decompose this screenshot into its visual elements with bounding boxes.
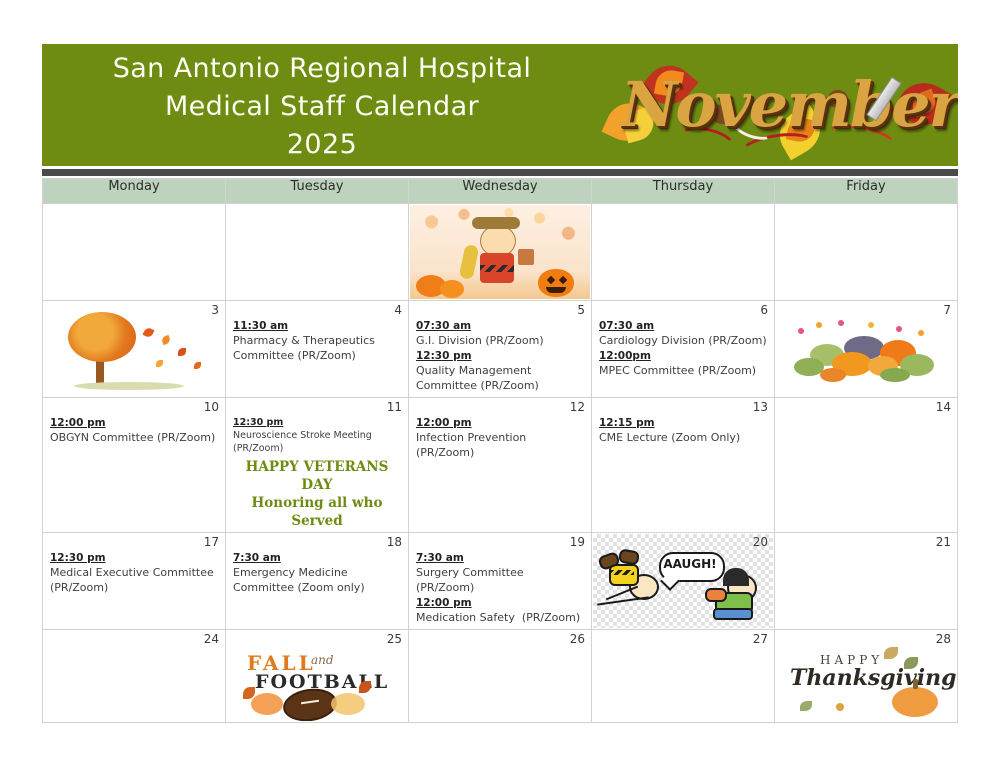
day-cell-18[interactable]: 18 7:30 am Emergency Medicine Committee … [226,533,409,630]
day-cell-10[interactable]: 10 12:00 pm OBGYN Committee (PR/Zoom) [43,398,226,533]
event-time: 07:30 am [599,319,767,333]
day-cell-26[interactable]: 26 [409,630,592,723]
ground [74,382,184,390]
day-cell-charlie-brown[interactable] [409,204,592,301]
leaf-icon [884,647,898,659]
calendar-page: San Antonio Regional Hospital Medical St… [0,0,1000,773]
event-time: 12:30 pm [50,551,218,565]
day-number: 24 [204,632,219,646]
day-cell-11[interactable]: 11 12:30 pm Neuroscience Stroke Meeting … [226,398,409,533]
day-cell-27[interactable]: 27 [592,630,775,723]
event-time: 7:30 am [233,551,401,565]
day-number: 12 [570,400,585,414]
events-list: 07:30 am Cardiology Division (PR/Zoom) 1… [592,301,774,381]
event-title: Medical Executive Committee (PR/Zoom) [50,565,218,595]
flower-icon [798,328,804,334]
header-separator-bar [42,169,958,176]
leaf-icon [800,701,812,711]
pumpkin-icon [892,687,938,717]
events-list: 07:30 am G.I. Division (PR/Zoom) 12:30 p… [409,301,591,396]
event-time: 11:30 am [233,319,401,333]
cocoa-cup-icon [518,249,534,265]
day-cell-21[interactable]: 21 [775,533,958,630]
calendar-banner: San Antonio Regional Hospital Medical St… [42,44,958,166]
day-number: 17 [204,535,219,549]
day-number: 26 [570,632,585,646]
event-time: 12:15 pm [599,416,767,430]
day-cell-24[interactable]: 24 [43,630,226,723]
jack-o-lantern-face [546,287,566,293]
event-title: Infection Prevention (PR/Zoom) [416,430,584,460]
calendar-week-row [43,204,958,301]
day-cell-20[interactable]: 20 AAUGH! [592,533,775,630]
day-cell-5[interactable]: 5 07:30 am G.I. Division (PR/Zoom) 12:30… [409,301,592,398]
november-label: November [590,68,958,141]
event-title: Surgery Committee (PR/Zoom) [416,565,584,595]
day-number: 10 [204,400,219,414]
day-cell[interactable] [775,204,958,301]
banner-title-line1: San Antonio Regional Hospital [113,53,532,84]
day-cell-6[interactable]: 6 07:30 am Cardiology Division (PR/Zoom)… [592,301,775,398]
flower-icon [918,330,924,336]
holiday-line-2: Honoring all who Served [233,494,401,530]
calendar-week-row: 10 12:00 pm OBGYN Committee (PR/Zoom) 11… [43,398,958,533]
lucy-legs [713,608,753,620]
autumn-tree-clipart [44,302,224,396]
falling-leaf-icon [178,348,186,356]
day-cell-14[interactable]: 14 [775,398,958,533]
happy-thanksgiving-clipart: HAPPY Thanksgiving [776,631,956,721]
calendar-week-row: 17 12:30 pm Medical Executive Committee … [43,533,958,630]
day-number: 6 [760,303,768,317]
holiday-banner: HAPPY VETERANS DAY Honoring all who Serv… [233,458,401,530]
charlie-brown-football-aaugh-clipart: AAUGH! [593,534,773,628]
events-list: 12:30 pm Medical Executive Committee (PR… [43,533,225,598]
weekday-header-row: Monday Tuesday Wednesday Thursday Friday [43,179,958,204]
weekday-header-monday: Monday [43,179,226,204]
flower-icon [896,326,902,332]
events-list: 7:30 am Surgery Committee (PR/Zoom) 12:0… [409,533,591,628]
day-cell-28[interactable]: 28 HAPPY Thanksgiving [775,630,958,723]
event-title: Cardiology Division (PR/Zoom) [599,333,767,348]
fall-and-football-clipart: FALL and FOOTBALL [227,631,407,721]
calendar-week-row: 24 25 FALL and FOOTBALL [43,630,958,723]
pumpkin-icon [880,368,910,382]
flower-icon [838,320,844,326]
day-cell-12[interactable]: 12 12:00 pm Infection Prevention (PR/Zoo… [409,398,592,533]
events-list: 12:00 pm OBGYN Committee (PR/Zoom) [43,398,225,448]
events-list: 12:15 pm CME Lecture (Zoom Only) [592,398,774,448]
charlie-brown-hat [472,217,520,229]
event-title: MPEC Committee (PR/Zoom) [599,363,767,378]
weekday-header-wednesday: Wednesday [409,179,592,204]
day-number: 28 [936,632,951,646]
day-number: 14 [936,400,951,414]
charlie-brown-zigzag [480,265,514,272]
event-title: Emergency Medicine Committee (Zoom only) [233,565,401,595]
events-list: 12:00 pm Infection Prevention (PR/Zoom) [409,398,591,463]
and-text: and [311,653,334,667]
event-time: 12:00 pm [416,596,584,610]
event-time: 12:00pm [599,349,767,363]
event-title: Medication Safety (PR/Zoom) [416,610,584,625]
banner-title-line2: Medical Staff Calendar [42,88,602,126]
aaugh-text: AAUGH! [659,557,721,571]
day-number: 13 [753,400,768,414]
banner-title-block: San Antonio Regional Hospital Medical St… [42,50,602,164]
pumpkin-icon [331,693,365,715]
event-title: G.I. Division (PR/Zoom) [416,333,584,348]
day-cell[interactable] [226,204,409,301]
weekday-header-thursday: Thursday [592,179,775,204]
day-number: 25 [387,632,402,646]
weekday-header-tuesday: Tuesday [226,179,409,204]
charlie-brown-shirt [609,564,639,586]
holiday-line-1: HAPPY VETERANS DAY [233,458,401,494]
pumpkin-stem [913,679,918,689]
pumpkin-icon [820,368,846,382]
day-number: 11 [387,400,402,414]
charlie-brown-zigzag [610,570,634,575]
lucy-arm [705,588,727,602]
event-title: OBGYN Committee (PR/Zoom) [50,430,218,445]
event-time: 12:30 pm [233,416,401,429]
day-number: 18 [387,535,402,549]
calendar-grid: Monday Tuesday Wednesday Thursday Friday [42,178,958,723]
day-number: 20 [753,535,768,549]
event-time: 07:30 am [416,319,584,333]
banner-title-year: 2025 [42,126,602,164]
day-cell-25[interactable]: 25 FALL and FOOTBALL [226,630,409,723]
event-title: Pharmacy & Therapeutics Committee (PR/Zo… [233,333,401,363]
event-time: 7:30 am [416,551,584,565]
event-time: 12:00 pm [416,416,584,430]
falling-leaf-icon [194,362,201,369]
events-list: 12:30 pm Neuroscience Stroke Meeting (PR… [226,398,408,532]
event-title: CME Lecture (Zoom Only) [599,430,767,445]
day-number: 3 [211,303,219,317]
thanksgiving-text: Thanksgiving [790,665,956,691]
tree-canopy [68,312,136,362]
event-title: Quality Management Committee (PR/Zoom) [416,363,584,393]
day-number: 5 [577,303,585,317]
day-cell-17[interactable]: 17 12:30 pm Medical Executive Committee … [43,533,226,630]
weekday-header-friday: Friday [775,179,958,204]
day-number: 4 [394,303,402,317]
flower-icon [816,322,822,328]
pumpkin-icon [440,280,464,298]
day-cell[interactable] [592,204,775,301]
day-number: 7 [943,303,951,317]
day-number: 27 [753,632,768,646]
day-cell-7[interactable]: 7 [775,301,958,398]
day-number: 19 [570,535,585,549]
lucy-hair [723,568,749,586]
berry-icon [836,703,844,711]
day-cell-13[interactable]: 13 12:15 pm CME Lecture (Zoom Only) [592,398,775,533]
pumpkin-patch-clipart [776,302,956,396]
falling-leaf-icon [161,335,171,345]
day-cell-3[interactable]: 3 [43,301,226,398]
calendar-week-row: 3 4 [43,301,958,398]
day-cell-4[interactable]: 4 11:30 am Pharmacy & Therapeutics Commi… [226,301,409,398]
corn-icon [459,244,480,280]
november-wordart: November [590,54,958,164]
event-time: 12:00 pm [50,416,218,430]
event-time: 12:30 pm [416,349,584,363]
day-cell[interactable] [43,204,226,301]
pumpkin-icon [251,693,283,715]
events-list: 11:30 am Pharmacy & Therapeutics Committ… [226,301,408,366]
event-title: Neuroscience Stroke Meeting (PR/Zoom) [233,429,401,455]
falling-leaf-icon [156,360,163,367]
charlie-brown-autumn-clipart [410,205,590,299]
day-cell-19[interactable]: 19 7:30 am Surgery Committee (PR/Zoom) 1… [409,533,592,630]
flower-icon [868,322,874,328]
falling-leaf-icon [143,327,155,339]
day-number: 21 [936,535,951,549]
events-list: 7:30 am Emergency Medicine Committee (Zo… [226,533,408,598]
